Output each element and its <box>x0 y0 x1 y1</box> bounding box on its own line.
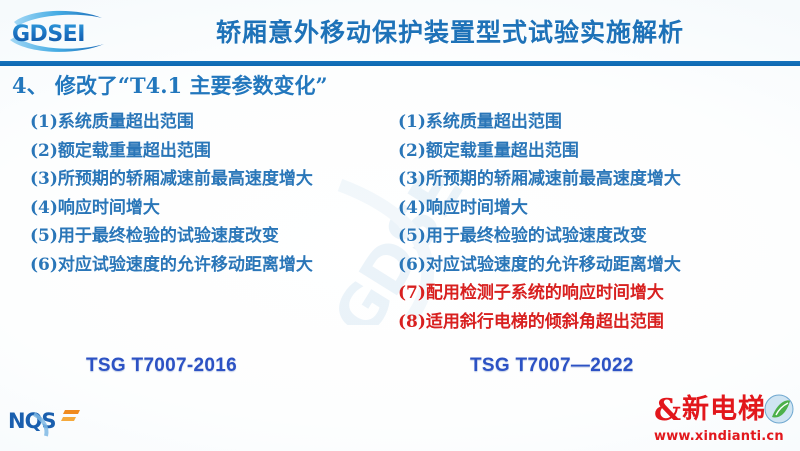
slide-canvas: GDSEI 轿厢意外移动保护装置型式试验实施解析 4、 修改了“T4.1 主要参… <box>0 0 800 451</box>
list-item: (1)系统质量超出范围 <box>398 108 778 137</box>
list-item: (3)所预期的轿厢减速前最高速度增大 <box>398 165 778 194</box>
xindianti-logo: & 新电梯 www.xindianti.cn <box>652 392 796 448</box>
nqs-logo: NQS <box>8 404 94 438</box>
list-item: (1)系统质量超出范围 <box>30 108 400 137</box>
column-tsg-2016: (1)系统质量超出范围 (2)额定载重量超出范围 (3)所预期的轿厢减速前最高速… <box>30 108 400 279</box>
header-divider-bar <box>0 61 800 66</box>
xindianti-logo-text: 新电梯 <box>682 392 766 428</box>
column-tsg-2022: (1)系统质量超出范围 (2)额定载重量超出范围 (3)所预期的轿厢减速前最高速… <box>398 108 778 336</box>
standard-label-right: TSG T7007—2022 <box>470 355 634 377</box>
xindianti-url-text: www.xindianti.cn <box>654 429 784 444</box>
standard-label-left: TSG T7007-2016 <box>86 355 237 377</box>
list-item: (6)对应试验速度的允许移动距离增大 <box>30 251 400 280</box>
list-item-highlighted: (7)配用检测子系统的响应时间增大 <box>398 279 778 308</box>
list-item: (4)响应时间增大 <box>30 194 400 223</box>
section-subtitle: 4、 修改了“T4.1 主要参数变化” <box>12 70 328 100</box>
list-item: (5)用于最终检验的试验速度改变 <box>398 222 778 251</box>
list-item: (6)对应试验速度的允许移动距离增大 <box>398 251 778 280</box>
ampersand-heart-icon: & <box>654 394 681 428</box>
globe-leaf-icon <box>764 393 794 427</box>
list-item: (4)响应时间增大 <box>398 194 778 223</box>
slide-header: GDSEI 轿厢意外移动保护装置型式试验实施解析 <box>0 0 800 62</box>
list-item: (2)额定载重量超出范围 <box>30 137 400 166</box>
svg-text:GDSEI: GDSEI <box>12 22 85 47</box>
list-item-highlighted: (8)适用斜行电梯的倾斜角超出范围 <box>398 308 778 337</box>
gdsei-logo: GDSEI <box>6 6 116 58</box>
xindianti-logo-row: & 新电梯 <box>652 392 796 430</box>
comparison-columns: (1)系统质量超出范围 (2)额定载重量超出范围 (3)所预期的轿厢减速前最高速… <box>0 108 800 348</box>
list-item: (5)用于最终检验的试验速度改变 <box>30 222 400 251</box>
list-item: (2)额定载重量超出范围 <box>398 137 778 166</box>
list-item: (3)所预期的轿厢减速前最高速度增大 <box>30 165 400 194</box>
page-title: 轿厢意外移动保护装置型式试验实施解析 <box>140 13 760 49</box>
